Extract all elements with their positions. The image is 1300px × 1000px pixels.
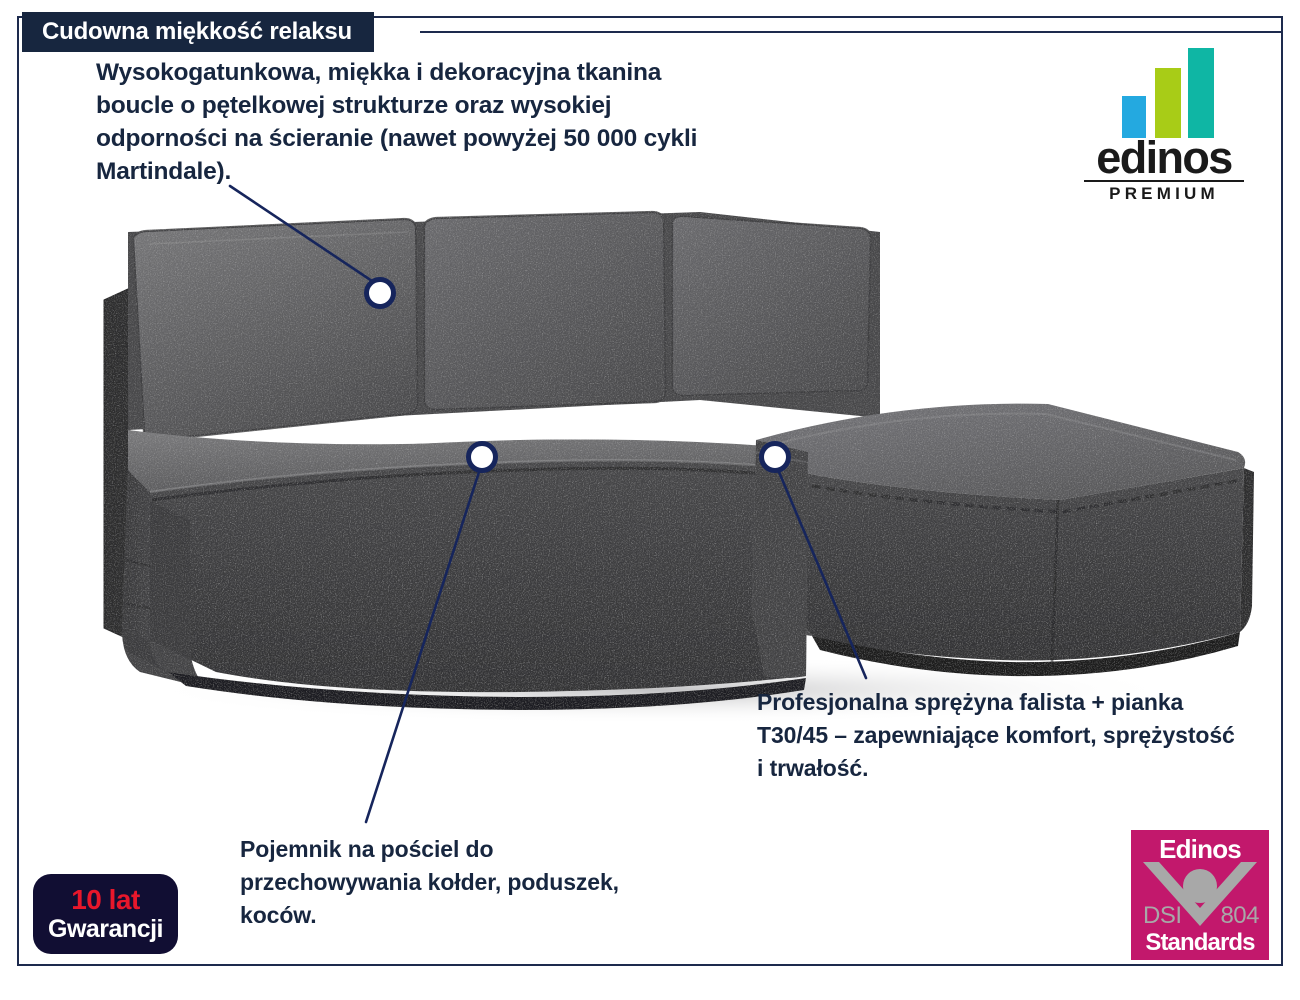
page-title: Cudowna miękkość relaksu <box>22 12 374 52</box>
dsi-code-left: DSI <box>1143 902 1182 930</box>
warranty-years: 10 lat <box>71 885 140 915</box>
logo-divider <box>1084 180 1244 182</box>
infographic-canvas: Cudowna miękkość relaksu Wysokogatunkowa… <box>0 0 1300 1000</box>
dsi-code-right: 804 <box>1220 902 1259 930</box>
logo-bar-lime <box>1155 68 1181 138</box>
bar-chart-icon <box>1122 48 1226 138</box>
logo-wordmark: edinos <box>1074 134 1254 182</box>
dsi-standards-badge: Edinos DSI 804 Standards <box>1131 830 1269 960</box>
page-title-text: Cudowna miękkość relaksu <box>42 18 352 46</box>
logo-bar-teal <box>1188 48 1214 138</box>
callout-marker-spring[interactable] <box>759 441 791 473</box>
title-rule <box>420 31 1283 33</box>
warranty-badge: 10 lat Gwarancji <box>33 874 178 954</box>
lead-paragraph: Wysokogatunkowa, miękka i dekoracyjna tk… <box>96 56 736 188</box>
callout-text-storage: Pojemnik na pościel do przechowywania ko… <box>240 833 620 932</box>
warranty-label: Gwarancji <box>48 915 163 943</box>
callout-text-spring: Profesjonalna sprężyna falista + pianka … <box>757 686 1237 785</box>
logo-subtitle: PREMIUM <box>1074 184 1254 204</box>
callout-marker-fabric[interactable] <box>364 277 396 309</box>
dsi-subtitle: Standards <box>1131 929 1269 957</box>
callout-marker-storage[interactable] <box>466 441 498 473</box>
edinos-premium-logo: edinos PREMIUM <box>1074 48 1254 218</box>
